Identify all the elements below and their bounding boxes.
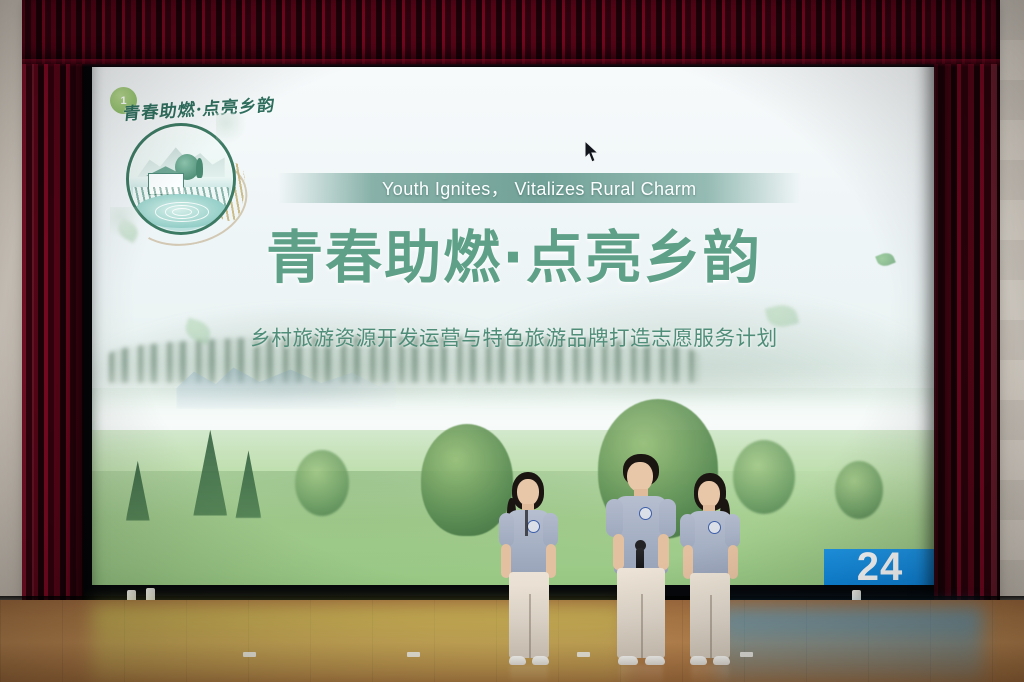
presenter-left-face bbox=[517, 479, 539, 506]
presenter-center-shoe-r bbox=[645, 656, 665, 665]
presenter-center-arm-l bbox=[613, 534, 624, 570]
presenter-left-sleeve-r bbox=[543, 513, 558, 547]
floor-marker-3 bbox=[577, 652, 590, 657]
corner-blue-banner: 24 bbox=[824, 549, 936, 585]
presenter-right-floor-reflection bbox=[691, 665, 729, 682]
presenter-center-leg-split bbox=[641, 594, 643, 658]
presenter-left-shoe-l bbox=[509, 656, 526, 665]
stage-curtain-left bbox=[22, 0, 84, 616]
blossom-branch-top-right bbox=[216, 113, 250, 147]
corner-banner-digits: 24 bbox=[857, 549, 904, 585]
presenter-left bbox=[496, 472, 560, 668]
presenter-center-sleeve-r bbox=[659, 499, 676, 537]
screenshot-root: 1 青春助燃·点亮乡韵 bbox=[0, 0, 1024, 682]
slide-tree-small-a bbox=[295, 450, 349, 516]
presenter-left-sleeve-l bbox=[499, 513, 514, 547]
floor-marker-1 bbox=[243, 652, 256, 657]
stage-curtain-top bbox=[22, 0, 1000, 64]
presenter-right bbox=[678, 473, 742, 668]
presenter-center-shirt-logo bbox=[639, 507, 652, 520]
presenter-center-face bbox=[627, 462, 653, 492]
stage-light-spill-blue bbox=[717, 608, 983, 682]
presenter-right-sleeve-r bbox=[725, 514, 740, 548]
presenter-left-shirt-logo bbox=[527, 520, 540, 533]
presenter-right-sleeve-l bbox=[680, 514, 695, 548]
presenter-center-arm-r bbox=[658, 534, 669, 570]
presenter-center-sleeve-l bbox=[606, 499, 623, 537]
presenter-left-shoe-r bbox=[532, 656, 549, 665]
slide-tree-small-c bbox=[835, 461, 883, 519]
stage-curtain-right bbox=[934, 0, 1000, 614]
slide-subtitle: 乡村旅游资源开发运营与特色旅游品牌打造志愿服务计划 bbox=[92, 321, 936, 351]
presenter-right-shoe-l bbox=[690, 656, 707, 665]
presenter-right-shirt-logo bbox=[708, 521, 721, 534]
presenter-right-arm-r bbox=[728, 545, 738, 579]
cypress-icon-a bbox=[196, 158, 203, 178]
english-tagline-text: Youth Ignites， Vitalizes Rural Charm bbox=[382, 175, 697, 201]
floor-marker-2 bbox=[407, 652, 420, 657]
presenter-left-floor-reflection bbox=[510, 665, 548, 682]
presenter-left-leg-split bbox=[529, 594, 531, 658]
english-tagline-band: Youth Ignites， Vitalizes Rural Charm bbox=[278, 173, 801, 203]
presenter-left-lanyard bbox=[525, 510, 528, 536]
presenter-center bbox=[605, 454, 677, 668]
presenter-center-floor-reflection bbox=[619, 665, 663, 682]
presenter-center-shoe-l bbox=[618, 656, 638, 665]
presenter-right-shoe-r bbox=[713, 656, 730, 665]
presenter-right-face bbox=[698, 481, 720, 508]
slide-main-title: 青春助燃·点亮乡韵 bbox=[92, 212, 936, 294]
presenter-right-leg-split bbox=[710, 595, 712, 658]
slide-tree-small-b bbox=[733, 440, 795, 514]
